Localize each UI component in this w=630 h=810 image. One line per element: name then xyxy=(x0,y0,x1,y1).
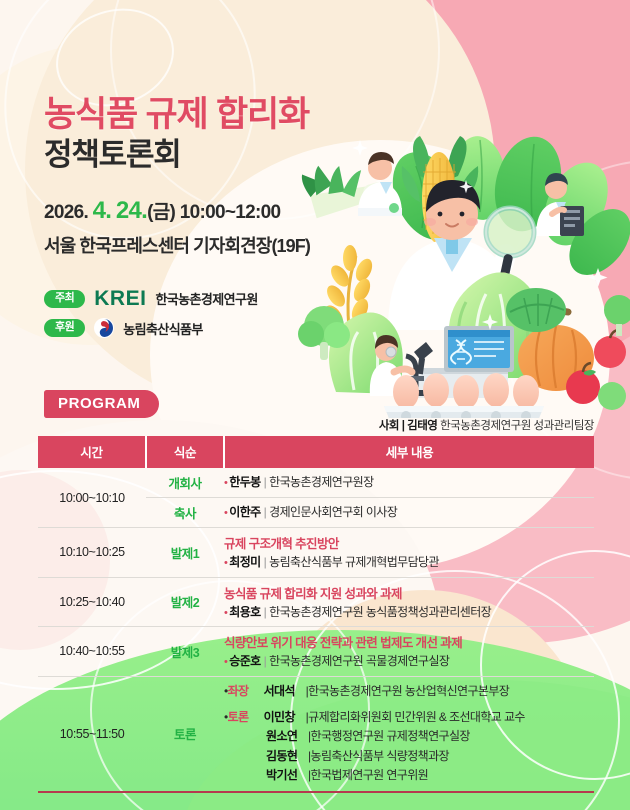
panel-line: •토론이민창|규제합리화위원회 민간위원 & 조선대학교 교수 xyxy=(224,708,594,727)
panel-line: 김동현|농림축산식품부 식량정책과장 xyxy=(224,747,594,766)
poster-header: 농식품 규제 합리화 정책토론회 2026. 4. 24.(금) 10:00~1… xyxy=(44,95,310,258)
speaker-name: 최용호 xyxy=(229,605,260,619)
chair-name: 서대석 xyxy=(264,682,306,701)
cell-detail-discussion: •좌장서대석|한국농촌경제연구원 농산업혁신연구본부장 •토론이민창|규제합리화… xyxy=(224,676,594,792)
cell-order: 개회사 xyxy=(146,468,224,498)
speaker-line: •최정미|농림축산식품부 규제개혁법무담당관 xyxy=(224,553,594,572)
session-topic: 규제 구조개혁 추진방안 xyxy=(224,533,594,552)
page-title: 농식품 규제 합리화 xyxy=(44,95,310,134)
speaker-line: •최용호|한국농촌경제연구원 농식품정책성과관리센터장 xyxy=(224,603,594,622)
panelist-name: 김동현 xyxy=(266,747,308,766)
panelist-name: 원소연 xyxy=(266,727,308,746)
egg-carton xyxy=(384,373,544,418)
speaker-affiliation: 한국농촌경제연구원 농식품정책성과관리센터장 xyxy=(269,605,491,619)
panel-tag: 토론 xyxy=(228,708,264,727)
bullet-icon: • xyxy=(224,557,227,569)
cell-detail: •이한주|경제인문사회연구회 이사장 xyxy=(224,498,594,528)
green-tree-right xyxy=(604,295,630,336)
table-row: 10:00~10:10 개회사 •한두봉|한국농촌경제연구원장 xyxy=(38,468,594,498)
page-subtitle: 정책토론회 xyxy=(44,136,310,175)
sponsor-badge: 후원 xyxy=(44,319,85,337)
cell-detail: 규제 구조개혁 추진방안 •최정미|농림축산식품부 규제개혁법무담당관 xyxy=(224,528,594,578)
cell-detail: •한두봉|한국농촌경제연구원장 xyxy=(224,468,594,498)
date-rest: (금) 10:00~12:00 xyxy=(147,202,280,223)
speaker-line: •한두봉|한국농촌경제연구원장 xyxy=(224,473,594,492)
speaker-name: 최정미 xyxy=(229,555,260,569)
event-date: 2026. 4. 24.(금) 10:00~12:00 xyxy=(44,197,310,225)
organizer-list: 주최 KREI 한국농촌경제연구원 후원 농림축산식품부 xyxy=(44,288,258,347)
cell-time: 10:55~11:50 xyxy=(38,676,146,792)
speaker-affiliation: 한국농촌경제연구원 곡물경제연구실장 xyxy=(269,654,449,668)
poster-canvas: 농식품 규제 합리화 정책토론회 2026. 4. 24.(금) 10:00~1… xyxy=(0,0,630,810)
speaker-name: 승준호 xyxy=(229,654,260,668)
chair-affiliation: 한국농촌경제연구원 농산업혁신연구본부장 xyxy=(308,684,509,698)
panelist-affiliation: 농림축산식품부 식량정책과장 xyxy=(311,749,449,763)
date-month: 4. xyxy=(93,197,112,224)
panelist-name: 이민창 xyxy=(264,708,306,727)
bullet-icon: • xyxy=(224,607,227,619)
cell-time: 10:25~10:40 xyxy=(38,577,146,627)
moderator-line: 사회 | 김태영 한국농촌경제연구원 성과관리팀장 xyxy=(379,417,594,433)
speaker-name: 이한주 xyxy=(229,505,260,519)
table-header-row: 시간 식순 세부 내용 xyxy=(38,436,594,468)
program-section-badge: PROGRAM xyxy=(44,390,159,418)
moderator-name: 김태영 xyxy=(407,420,437,432)
event-venue: 서울 한국프레스센터 기자회견장(19F) xyxy=(44,232,310,258)
session-topic: 식량안보 위기 대응 전략과 관련 법제도 개선 과제 xyxy=(224,632,594,651)
speaker-line: •승준호|한국농촌경제연구원 곡물경제연구실장 xyxy=(224,652,594,671)
speaker-affiliation: 농림축산식품부 규제개혁법무담당관 xyxy=(269,555,439,569)
table-row-discussion: 10:55~11:50 토론 •좌장서대석|한국농촌경제연구원 농산업혁신연구본… xyxy=(38,676,594,792)
panel-line: 박기선|한국법제연구원 연구위원 xyxy=(224,766,594,785)
chair-line: •좌장서대석|한국농촌경제연구원 농산업혁신연구본부장 xyxy=(224,682,594,701)
table-row: 10:25~10:40 발제2 농식품 규제 합리화 지원 성과와 과제 •최용… xyxy=(38,577,594,627)
speaker-affiliation: 한국농촌경제연구원장 xyxy=(269,475,373,489)
host-name: 한국농촌경제연구원 xyxy=(155,289,257,308)
speaker-name: 한두봉 xyxy=(229,475,260,489)
bullet-icon: • xyxy=(224,507,227,519)
large-leaf xyxy=(506,288,566,332)
bullet-icon: • xyxy=(224,477,227,489)
panelist-name: 박기선 xyxy=(266,766,308,785)
monitor-dna-screen xyxy=(444,326,514,372)
header-order: 식순 xyxy=(146,436,224,468)
session-topic: 농식품 규제 합리화 지원 성과와 과제 xyxy=(224,583,594,602)
table-row: 10:10~10:25 발제1 규제 구조개혁 추진방안 •최정미|농림축산식품… xyxy=(38,528,594,578)
organizer-row-host: 주최 KREI 한국농촌경제연구원 xyxy=(44,288,258,309)
cell-detail: 식량안보 위기 대응 전략과 관련 법제도 개선 과제 •승준호|한국농촌경제연… xyxy=(224,627,594,677)
cell-order: 발제2 xyxy=(146,577,224,627)
government-taegeuk-icon xyxy=(94,318,114,338)
cell-order: 축사 xyxy=(146,498,224,528)
program-table: 시간 식순 세부 내용 10:00~10:10 개회사 •한두봉|한국농촌경제연… xyxy=(38,436,594,793)
chair-tag: 좌장 xyxy=(228,682,264,701)
panelist-affiliation: 한국행정연구원 규제정책연구실장 xyxy=(311,729,470,743)
cell-time: 10:10~10:25 xyxy=(38,528,146,578)
speaker-affiliation: 경제인문사회연구회 이사장 xyxy=(269,505,397,519)
date-year: 2026. xyxy=(44,202,88,223)
sponsor-name: 농림축산식품부 xyxy=(123,319,203,338)
cell-time: 10:00~10:10 xyxy=(38,468,146,528)
green-fruit-small xyxy=(598,382,626,410)
panel-line: 원소연|한국행정연구원 규제정책연구실장 xyxy=(224,727,594,746)
cell-time: 10:40~10:55 xyxy=(38,627,146,677)
food-research-illustration xyxy=(298,118,630,418)
table-row: 10:40~10:55 발제3 식량안보 위기 대응 전략과 관련 법제도 개선… xyxy=(38,627,594,677)
bullet-icon: • xyxy=(224,656,227,668)
krei-logo: KREI xyxy=(94,288,146,309)
cell-order: 발제3 xyxy=(146,627,224,677)
cell-order: 토론 xyxy=(146,676,224,792)
panelist-affiliation: 한국법제연구원 연구위원 xyxy=(311,768,429,782)
header-time: 시간 xyxy=(38,436,146,468)
moderator-label: 사회 xyxy=(379,420,399,432)
date-day: 24. xyxy=(116,197,147,224)
header-detail: 세부 내용 xyxy=(224,436,594,468)
moderator-sep: | xyxy=(402,420,405,432)
speaker-line: •이한주|경제인문사회연구회 이사장 xyxy=(224,503,594,522)
moderator-title: 한국농촌경제연구원 성과관리팀장 xyxy=(440,420,594,432)
host-badge: 주최 xyxy=(44,290,85,308)
organizer-row-sponsor: 후원 농림축산식품부 xyxy=(44,318,258,338)
cell-order: 발제1 xyxy=(146,528,224,578)
cell-detail: 농식품 규제 합리화 지원 성과와 과제 •최용호|한국농촌경제연구원 농식품정… xyxy=(224,577,594,627)
panelist-affiliation: 규제합리화위원회 민간위원 & 조선대학교 교수 xyxy=(308,710,525,724)
